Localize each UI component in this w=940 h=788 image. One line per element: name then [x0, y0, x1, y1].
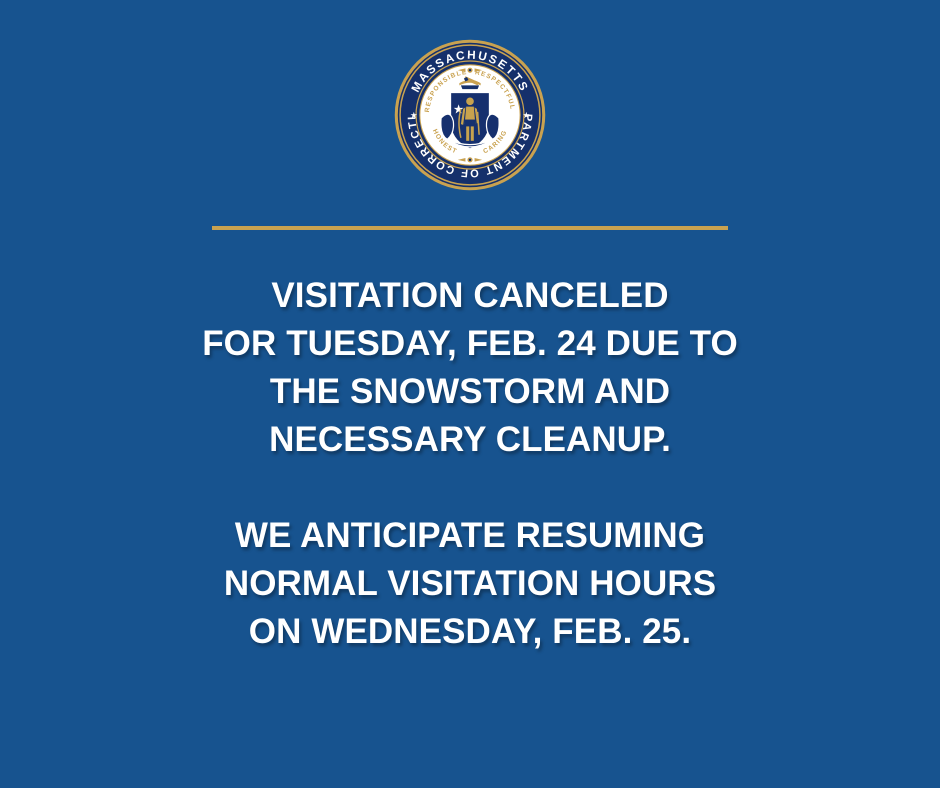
message-line: WE ANTICIPATE RESUMING — [0, 512, 940, 560]
announcement-card: MASSACHUSETTS DEPARTMENT OF CORRECTION ★… — [0, 0, 940, 788]
message-line: VISITATION CANCELED — [0, 272, 940, 320]
gold-divider — [212, 226, 728, 230]
paragraph-spacer — [0, 464, 940, 512]
seal-star-left: ★ — [410, 110, 417, 120]
message-line: NECESSARY CLEANUP. — [0, 416, 940, 464]
announcement-message: VISITATION CANCELED FOR TUESDAY, FEB. 24… — [0, 272, 940, 656]
message-paragraph-1: VISITATION CANCELED FOR TUESDAY, FEB. 24… — [0, 272, 940, 464]
department-seal: MASSACHUSETTS DEPARTMENT OF CORRECTION ★… — [394, 39, 546, 191]
message-paragraph-2: WE ANTICIPATE RESUMING NORMAL VISITATION… — [0, 512, 940, 656]
message-line: FOR TUESDAY, FEB. 24 DUE TO — [0, 320, 940, 368]
seal-star-right: ★ — [522, 110, 529, 120]
message-line: THE SNOWSTORM AND — [0, 368, 940, 416]
message-line: NORMAL VISITATION HOURS — [0, 560, 940, 608]
message-line: ON WEDNESDAY, FEB. 25. — [0, 608, 940, 656]
